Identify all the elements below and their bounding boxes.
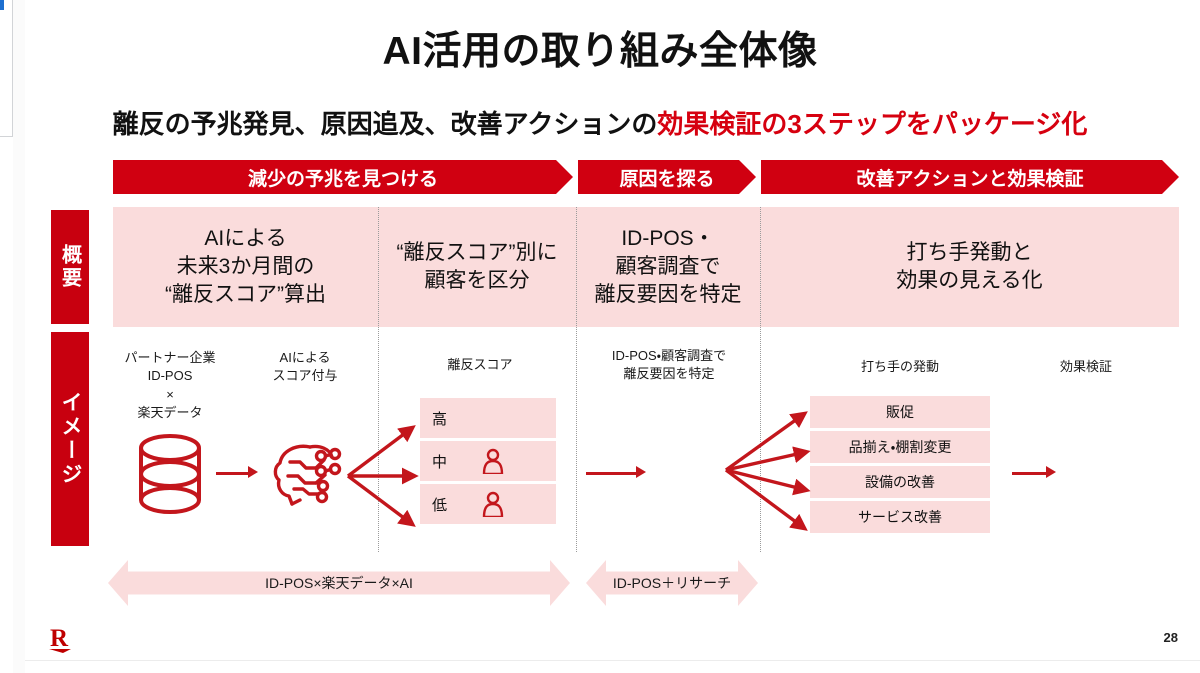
subtitle-highlight-text: 効果検証の3ステップをパッケージ化 [657,109,1087,139]
overview-cell-1-line-3: “離反スコア”算出 [165,281,326,309]
effect-verification-caption: 効果検証 [1026,358,1146,376]
score-row-low-label: 低 [432,494,447,515]
page-number: 28 [1164,630,1178,645]
arrow-db-to-ai-shaft [216,472,250,475]
partner-caption-line-4: 楽天データ [104,404,236,422]
ai-caption-line-1: AIによる [252,349,358,367]
score-row-mid: 中 [420,441,556,481]
score-table: 高 中 低 [420,398,556,527]
idpos-caption-line-2: 離反要因を特定 [584,365,754,383]
ai-brain-icon [272,442,344,508]
overview-cell-2-line-1: “離反スコア”別に [397,239,558,267]
step-banner-1-label: 減少の予兆を見つける [248,164,438,191]
overview-cell-2: “離反スコア”別に 顧客を区分 [378,207,576,327]
row-label-overview: 概要 [51,210,89,324]
score-row-mid-label: 中 [432,451,447,472]
svg-text:R: R [50,625,69,652]
action-list-caption: 打ち手の発動 [800,358,1000,376]
partner-caption-line-1: パートナー企業 [104,349,236,367]
step-banner-3-label: 改善アクションと効果検証 [856,164,1083,191]
overview-cell-3-line-3: 離反要因を特定 [595,281,742,309]
arrow-score-to-cause-shaft [586,472,638,475]
column-divider-2 [576,207,577,552]
bottom-arrow-2: ID-POS＋リサーチ [586,560,758,606]
subtitle-plain-text: 離反の予兆発見、原因追及、改善アクションの [113,109,658,139]
bottom-arrow-2-label: ID-POS＋リサーチ [613,573,731,593]
partner-caption-line-2: ID-POS [104,367,236,385]
ai-caption-line-2: スコア付与 [252,367,358,385]
viewer-accent-marker [0,0,4,10]
overview-cell-3-line-1: ID-POS・ [595,225,742,253]
fan-arrow-four-way [718,408,818,536]
ai-score-caption: AIによる スコア付与 [252,349,358,386]
step-banner-3: 改善アクションと効果検証 [761,160,1179,194]
bottom-arrow-1-label: ID-POS×楽天データ×AI [265,573,413,593]
step-banner-2-label: 原因を探る [619,164,714,191]
action-item-1: 販促 [810,396,990,428]
arrow-db-to-ai-head [248,466,258,478]
overview-cell-4-line-2: 効果の見える化 [896,267,1042,295]
database-icon [138,434,202,516]
person-icon [482,491,504,517]
arrow-action-to-effect-head [1046,466,1056,478]
step-banner-2: 原因を探る [578,160,756,194]
overview-cell-4-line-1: 打ち手発動と [896,239,1042,267]
slide-canvas: AI活用の取り組み全体像 離反の予兆発見、原因追及、改善アクションの効果検証の3… [0,0,1200,673]
action-item-2: 品揃え・棚割変更 [810,431,990,463]
bottom-arrow-1: ID-POS×楽天データ×AI [108,560,570,606]
person-icon [482,448,504,474]
overview-cell-1-line-1: AIによる [165,225,326,253]
score-row-high-label: 高 [432,408,447,429]
page-title: AI活用の取り組み全体像 [0,20,1200,76]
action-item-3: 設備の改善 [810,466,990,498]
slide-subtitle: 離反の予兆発見、原因追及、改善アクションの効果検証の3ステップをパッケージ化 [0,104,1200,141]
row-label-image: イメージ [51,332,89,546]
action-list: 販促 品揃え・棚割変更 設備の改善 サービス改善 [810,396,990,536]
idpos-survey-caption: ID-POS・顧客調査で 離反要因を特定 [584,347,754,384]
overview-cell-3: ID-POS・ 顧客調査で 離反要因を特定 [576,207,760,327]
arrow-action-to-effect-shaft [1012,472,1048,475]
arrow-score-to-cause-head [636,466,646,478]
overview-cell-1: AIによる 未来3か月間の “離反スコア”算出 [113,207,378,327]
partner-caption-line-3: × [104,386,236,404]
rakuten-r-logo: R [47,622,81,656]
action-item-4: サービス改善 [810,501,990,533]
score-row-high: 高 [420,398,556,438]
overview-cell-1-line-2: 未来3か月間の [165,253,326,281]
fan-arrow-three-way [340,418,426,534]
left-gutter [13,0,25,673]
idpos-caption-line-1: ID-POS・顧客調査で [584,347,754,365]
overview-cell-4: 打ち手発動と 効果の見える化 [760,207,1179,327]
score-row-low: 低 [420,484,556,524]
step-banner-1: 減少の予兆を見つける [113,160,573,194]
partner-data-caption: パートナー企業 ID-POS × 楽天データ [104,349,236,423]
score-table-caption: 離反スコア [400,356,560,374]
footer-divider [25,660,1200,661]
overview-cell-3-line-2: 顧客調査で [595,253,742,281]
overview-cell-2-line-2: 顧客を区分 [397,267,558,295]
